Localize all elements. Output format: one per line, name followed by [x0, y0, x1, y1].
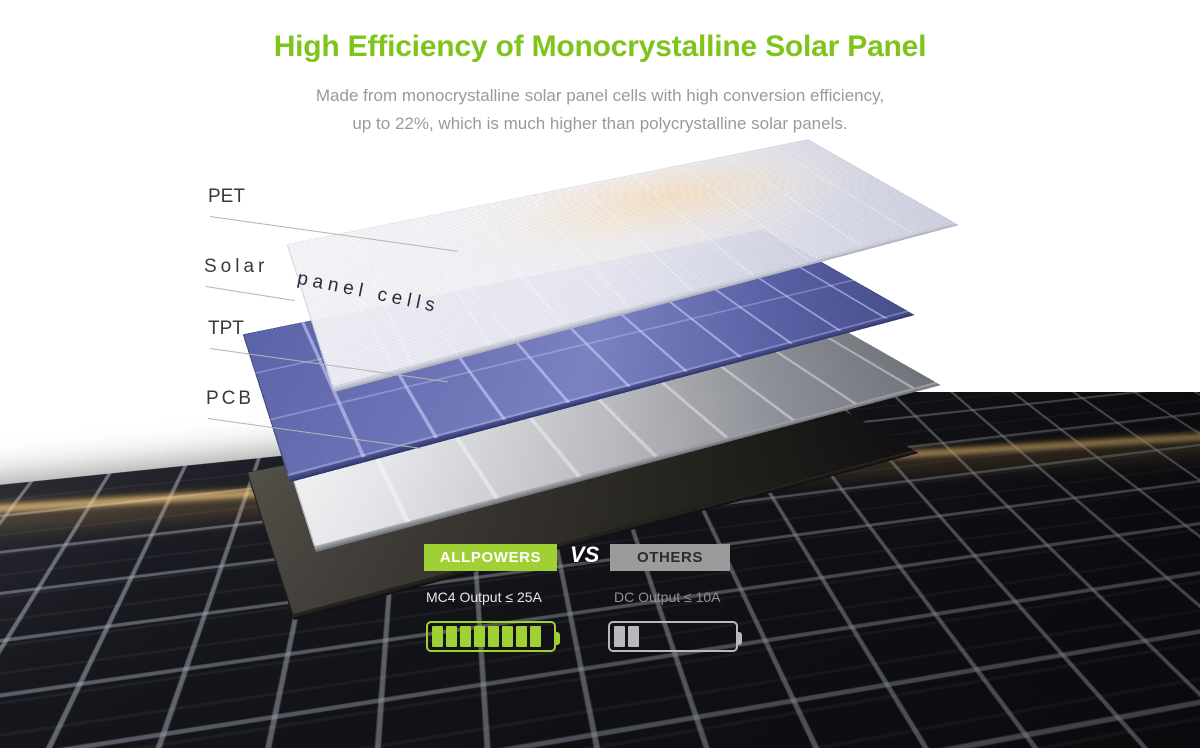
exploded-layer-stack: panel cells PET Solar TPT PCB: [0, 0, 1200, 560]
battery-nub: [736, 632, 742, 645]
comparison-badges: ALLPOWERS VS OTHERS: [424, 544, 764, 571]
battery-bar: [516, 626, 527, 647]
callout-solar-cells-label: Solar: [204, 256, 268, 278]
badge-allpowers: ALLPOWERS: [424, 544, 557, 571]
battery-bar: [614, 626, 625, 647]
output-labels: MC4 Output ≤ 25A DC Output ≤ 10A: [424, 589, 764, 615]
battery-nub: [554, 632, 560, 645]
battery-bar: [488, 626, 499, 647]
product-infographic: High Efficiency of Monocrystalline Solar…: [0, 0, 1200, 748]
battery-bar: [474, 626, 485, 647]
battery-indicators: [424, 621, 764, 655]
output-label-others: DC Output ≤ 10A: [614, 589, 721, 605]
battery-icon-allpowers: [426, 621, 556, 652]
battery-bar: [530, 626, 541, 647]
battery-icon-others: [608, 621, 738, 652]
vs-label: VS: [570, 542, 599, 568]
battery-bar: [502, 626, 513, 647]
comparison-block: ALLPOWERS VS OTHERS MC4 Output ≤ 25A DC …: [424, 544, 764, 655]
output-label-allpowers: MC4 Output ≤ 25A: [426, 589, 542, 605]
battery-bar: [432, 626, 443, 647]
badge-others: OTHERS: [610, 544, 730, 571]
callout-pcb-label: PCB: [206, 388, 254, 410]
callout-tpt-label: TPT: [208, 318, 244, 340]
battery-bar: [628, 626, 639, 647]
battery-bar: [460, 626, 471, 647]
callout-pet-label: PET: [208, 186, 245, 208]
callout-solar-cells-line: [206, 286, 295, 301]
battery-bar: [446, 626, 457, 647]
